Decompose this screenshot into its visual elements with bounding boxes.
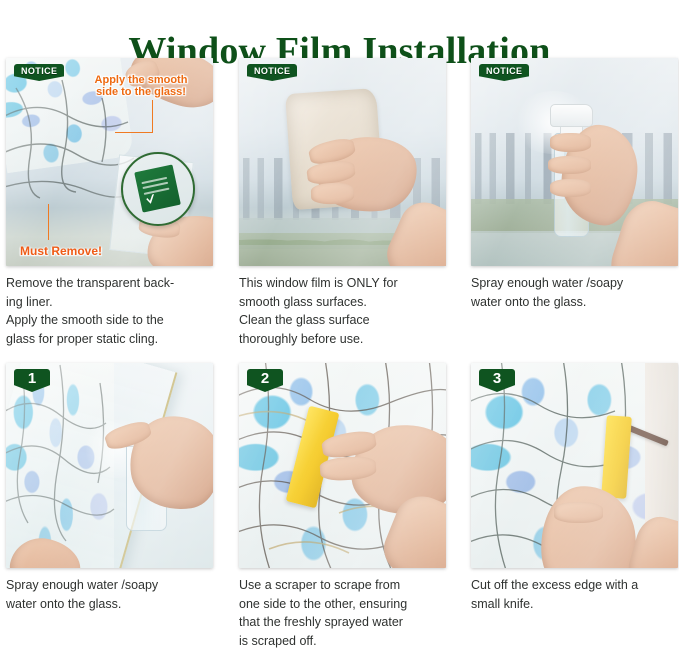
caption-line: water onto the glass. bbox=[6, 595, 219, 614]
finger-index bbox=[550, 133, 591, 152]
yellow-scraper-tool bbox=[601, 416, 631, 500]
annotation-apply-smooth-side: Apply the smooth side to the glass! bbox=[75, 74, 207, 98]
panel-1: NOTICE Apply the smooth side to the glas… bbox=[6, 58, 219, 348]
inset-green-card bbox=[135, 164, 182, 212]
finger-middle bbox=[548, 156, 591, 175]
caption-line: small knife. bbox=[471, 595, 679, 614]
spray-bottle-nozzle bbox=[550, 104, 593, 127]
annotation-must-remove: Must Remove! bbox=[20, 244, 102, 258]
panel-4-photo: 1 bbox=[6, 363, 213, 568]
window-film-installation-infographic: Window Film Installation bbox=[0, 0, 679, 663]
caption-line: Apply the smooth side to the bbox=[6, 311, 219, 330]
annotation-pointer-horizontal bbox=[115, 132, 153, 133]
panel-row-top: NOTICE Apply the smooth side to the glas… bbox=[0, 58, 679, 363]
panel-3-caption: Spray enough water /soapy water onto the… bbox=[471, 274, 679, 311]
caption-line: one side to the other, ensuring bbox=[239, 595, 452, 614]
caption-line: Spray enough water /soapy bbox=[6, 576, 219, 595]
finger-ring bbox=[311, 182, 355, 204]
panel-4: 1 Spray enough water /soapy water onto t… bbox=[6, 363, 219, 613]
caption-line: Cut off the excess edge with a bbox=[471, 576, 679, 595]
inset-callout-circle bbox=[121, 152, 195, 226]
caption-line: is scraped off. bbox=[239, 632, 452, 651]
panel-6-photo: 3 bbox=[471, 363, 678, 568]
panel-6: 3 Cut off the excess edge with a small k… bbox=[471, 363, 679, 613]
caption-line: Spray enough water /soapy bbox=[471, 274, 679, 293]
panel-2-caption: This window film is ONLY for smooth glas… bbox=[239, 274, 452, 348]
caption-line: Clean the glass surface bbox=[239, 311, 452, 330]
panel-5-photo: 2 bbox=[239, 363, 446, 568]
finger-index bbox=[554, 502, 604, 523]
caption-line: water onto the glass. bbox=[471, 293, 679, 312]
caption-line: Use a scraper to scrape from bbox=[239, 576, 452, 595]
annotation-pointer-vertical bbox=[152, 100, 153, 132]
panel-2-photo: NOTICE bbox=[239, 58, 446, 266]
panel-3: NOTICE Spray enough water /soapy water o… bbox=[471, 58, 679, 311]
panel-4-caption: Spray enough water /soapy water onto the… bbox=[6, 576, 219, 613]
must-remove-pointer bbox=[48, 204, 49, 240]
caption-line: smooth glass surfaces. bbox=[239, 293, 452, 312]
caption-line: Remove the transparent back- bbox=[6, 274, 219, 293]
panel-2: NOTICE This window film is ONLY for smoo… bbox=[239, 58, 452, 348]
panel-1-photo: NOTICE Apply the smooth side to the glas… bbox=[6, 58, 213, 266]
panel-3-photo: NOTICE bbox=[471, 58, 678, 266]
panel-row-bottom: 1 Spray enough water /soapy water onto t… bbox=[0, 363, 679, 663]
panel-5: 2 Use a scraper to scrape from one side … bbox=[239, 363, 452, 650]
panel-1-caption: Remove the transparent back- ing liner. … bbox=[6, 274, 219, 348]
panel-5-caption: Use a scraper to scrape from one side to… bbox=[239, 576, 452, 650]
caption-line: thoroughly before use. bbox=[239, 330, 452, 349]
caption-line: glass for proper static cling. bbox=[6, 330, 219, 349]
caption-line: ing liner. bbox=[6, 293, 219, 312]
caption-line: This window film is ONLY for bbox=[239, 274, 452, 293]
panel-6-caption: Cut off the excess edge with a small kni… bbox=[471, 576, 679, 613]
caption-line: that the freshly sprayed water bbox=[239, 613, 452, 632]
finger-ring bbox=[550, 179, 591, 198]
panel-grid: NOTICE Apply the smooth side to the glas… bbox=[0, 58, 679, 663]
